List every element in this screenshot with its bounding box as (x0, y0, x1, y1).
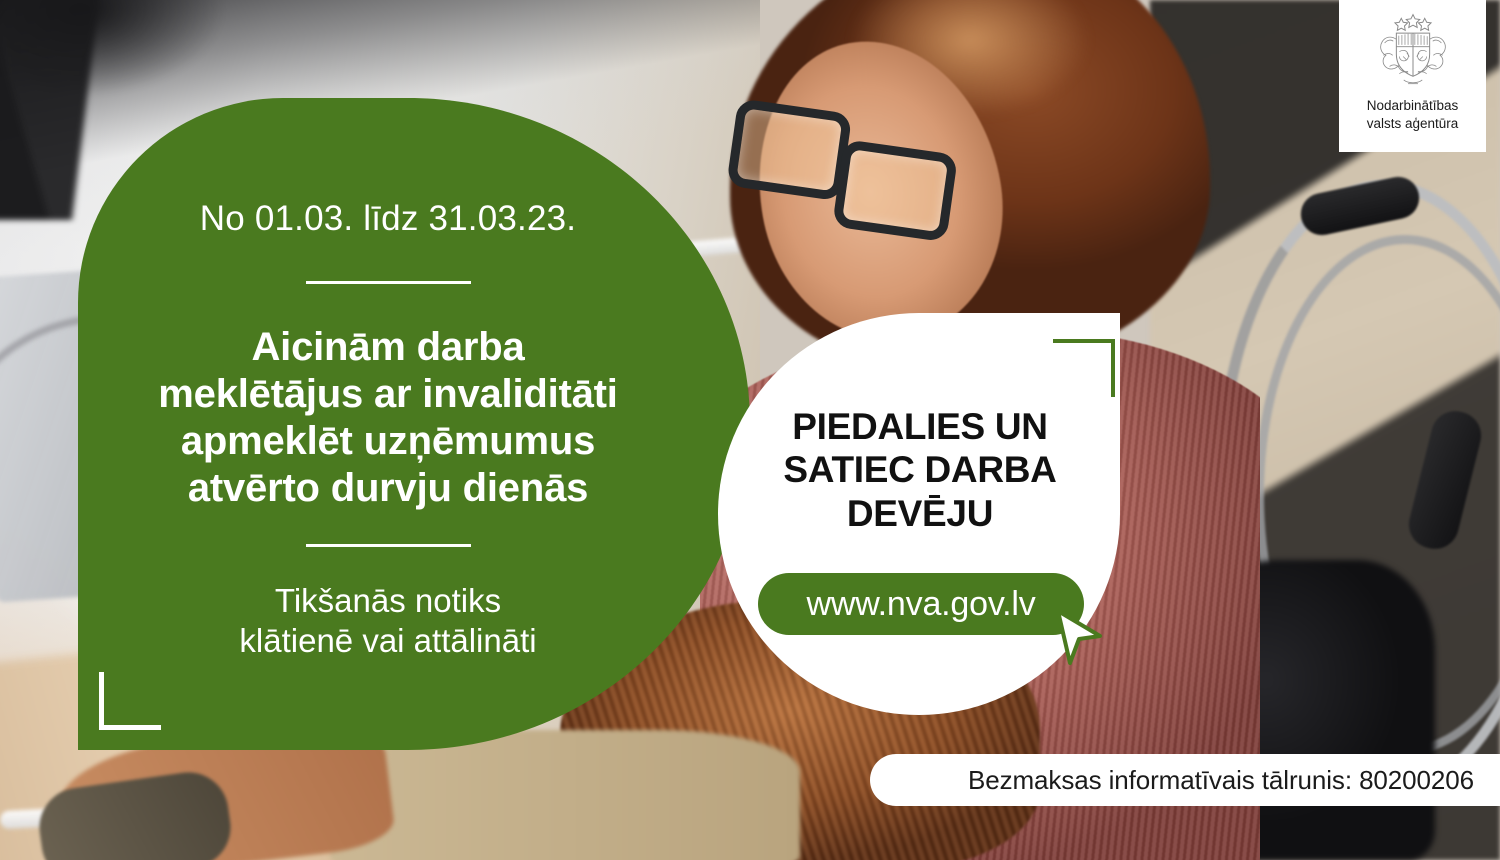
divider-bottom (306, 544, 471, 547)
date-range-text: No 01.03. līdz 31.03.23. (200, 200, 576, 239)
cta-title: PIEDALIES UN SATIEC DARBA DEVĒJU (736, 405, 1104, 535)
divider-top (306, 281, 471, 284)
headline-line-4: atvērto durvju dienās (158, 465, 617, 512)
cta-title-line-3: DEVĒJU (736, 492, 1104, 535)
subtext-line-2: klātienē vai attālināti (239, 621, 536, 661)
subtext: Tikšanās notiks klātienē vai attālināti (239, 581, 536, 660)
subtext-line-1: Tikšanās notiks (239, 581, 536, 621)
headline-line-2: meklētājus ar invaliditāti (158, 371, 617, 418)
phone-info-text: Bezmaksas informatīvais tālrunis: 802002… (968, 765, 1474, 796)
corner-bracket-icon-green (1053, 339, 1115, 397)
website-url-label: www.nva.gov.lv (807, 585, 1036, 624)
nva-logo: Nodarbinātības valsts aģentūra (1339, 0, 1486, 152)
corner-bracket-icon (99, 672, 161, 730)
phone-info-bar: Bezmaksas informatīvais tālrunis: 802002… (870, 754, 1500, 806)
logo-text-line-2: valsts aģentūra (1367, 115, 1459, 133)
website-url-button[interactable]: www.nva.gov.lv (758, 573, 1084, 635)
cta-title-line-2: SATIEC DARBA (736, 448, 1104, 491)
latvian-coat-of-arms-icon (1376, 12, 1450, 90)
headline-text: Aicinām darba meklētājus ar invaliditāti… (158, 324, 617, 513)
headline-line-3: apmeklēt uzņēmumus (158, 418, 617, 465)
cta-title-line-1: PIEDALIES UN (736, 405, 1104, 448)
mouse-cursor-icon (1053, 608, 1105, 670)
logo-text-line-1: Nodarbinātības (1367, 97, 1459, 115)
lens-right (832, 139, 958, 242)
headline-line-1: Aicinām darba (158, 324, 617, 371)
logo-text: Nodarbinātības valsts aģentūra (1367, 97, 1459, 132)
poster-canvas: No 01.03. līdz 31.03.23. Aicinām darba m… (0, 0, 1500, 860)
green-panel-content: No 01.03. līdz 31.03.23. Aicinām darba m… (78, 98, 698, 750)
